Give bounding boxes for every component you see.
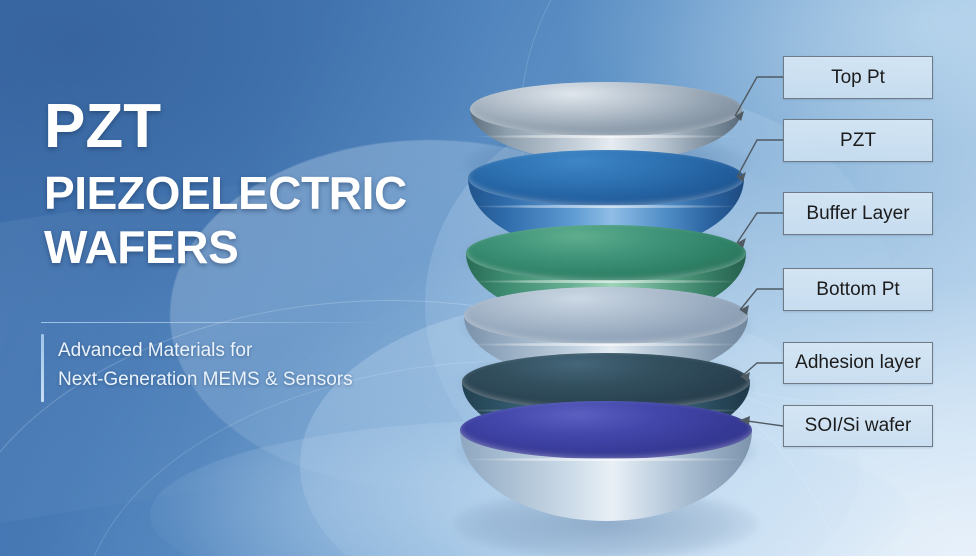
callout-label: Buffer Layer <box>806 203 909 225</box>
callout-label: Top Pt <box>831 67 885 89</box>
callout-adhesion-layer[interactable]: Adhesion layer <box>783 342 933 384</box>
disc-rim-highlight <box>466 343 746 346</box>
wafer-disc-soi-si-wafer[interactable] <box>460 401 752 521</box>
disc-top-surface <box>466 225 746 281</box>
callout-soi-si-wafer[interactable]: SOI/Si wafer <box>783 405 933 447</box>
disc-rim-highlight <box>470 205 742 208</box>
callout-label: Bottom Pt <box>816 279 899 301</box>
disc-top-surface <box>460 401 752 459</box>
disc-top-surface <box>464 287 748 344</box>
callout-label: Adhesion layer <box>795 352 921 374</box>
callout-buffer-layer[interactable]: Buffer Layer <box>783 192 933 235</box>
disc-top-surface <box>468 150 744 206</box>
disc-top-surface <box>470 82 742 136</box>
callout-label: PZT <box>840 130 876 152</box>
callout-label: SOI/Si wafer <box>805 415 912 437</box>
callout-pzt[interactable]: PZT <box>783 119 933 162</box>
disc-rim-highlight <box>462 458 750 461</box>
poster-canvas: PZT PIEZOELECTRIC WAFERS Advanced Materi… <box>0 0 976 556</box>
callout-bottom-pt[interactable]: Bottom Pt <box>783 268 933 311</box>
callout-top-pt[interactable]: Top Pt <box>783 56 933 99</box>
disc-rim-highlight <box>468 280 744 283</box>
disc-rim-highlight <box>472 135 740 138</box>
